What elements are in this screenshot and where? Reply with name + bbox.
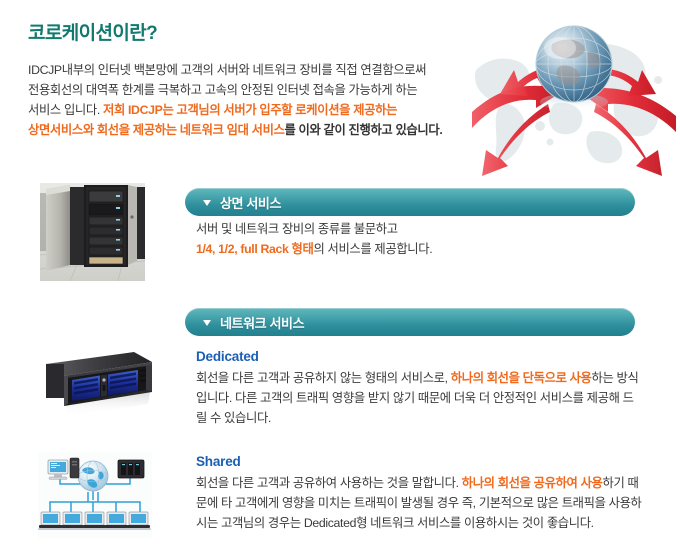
section-header-colocation-label: 상면 서비스 xyxy=(220,193,281,212)
dedicated-text-highlight: 하나의 회선을 단독으로 사용 xyxy=(451,371,592,385)
server-rack-photo xyxy=(40,183,145,281)
dedicated-text-part-1: 회선을 다른 고객과 공유하지 않는 형태의 서비스로, xyxy=(196,371,451,385)
dedicated-body-copy: Dedicated 회선을 다른 고객과 공유하지 않는 형태의 서비스로, 하… xyxy=(196,347,644,428)
section-header-colocation[interactable]: 상면 서비스 xyxy=(185,188,635,216)
intro-line-3-highlight: 저희 IDCJP는 고객님의 서버가 입주할 로케이션을 제공하는 xyxy=(103,103,397,117)
dedicated-heading: Dedicated xyxy=(196,347,644,367)
shared-body-copy: Shared 회선을 다른 고객과 공유하여 사용하는 것을 말합니다. 하나의… xyxy=(196,452,648,533)
intro-line-3-plain: 서비스 입니다. xyxy=(28,103,103,117)
shared-text-highlight: 하나의 회선을 공유하여 사용 xyxy=(462,476,603,490)
rackmount-server-photo xyxy=(38,348,156,424)
globe-sphere xyxy=(536,26,612,111)
intro-paragraph: IDCJP내부의 인터넷 백본망에 고객의 서버와 네트워크 장비를 직접 연결… xyxy=(28,60,468,140)
colocation-line-1: 서버 및 네트워크 장비의 종류를 불문하고 xyxy=(196,222,398,236)
intro-line-4-highlight: 상면서비스와 회선을 제공하는 네트워크 임대 서비스 xyxy=(28,123,285,137)
server-icon xyxy=(118,460,144,478)
shared-text-part-1: 회선을 다른 고객과 공유하여 사용하는 것을 말합니다. xyxy=(196,476,462,490)
intro-line-2: 전용회선의 대역폭 한계를 극복하고 고속의 안정된 인터넷 접속을 가능하게 … xyxy=(28,83,417,97)
globe-icon xyxy=(78,461,108,491)
globe-with-arrows-graphic xyxy=(470,8,680,180)
colocation-line-2-highlight: 1/4, 1/2, full Rack 형태 xyxy=(196,242,313,256)
section-header-network[interactable]: 네트워크 서비스 xyxy=(185,308,635,336)
chevron-down-icon xyxy=(203,200,211,206)
colocation-body-copy: 서버 및 네트워크 장비의 종류를 불문하고 1/4, 1/2, full Ra… xyxy=(196,219,636,259)
intro-line-1: IDCJP내부의 인터넷 백본망에 고객의 서버와 네트워크 장비를 직접 연결… xyxy=(28,63,426,77)
page-title: 코로케이션이란? xyxy=(28,18,157,45)
shared-heading: Shared xyxy=(196,452,648,472)
page-root: 코로케이션이란? IDCJP내부의 인터넷 백본망에 고객의 서버와 네트워크 … xyxy=(0,0,680,560)
section-header-network-label: 네트워크 서비스 xyxy=(220,313,304,332)
chevron-down-icon xyxy=(203,320,211,326)
laptop-row xyxy=(38,512,151,530)
rack-units xyxy=(89,191,123,264)
colocation-line-2-plain: 의 서비스를 제공합니다. xyxy=(313,242,432,256)
network-topology-diagram-photo xyxy=(38,452,152,538)
intro-line-4-plain: 를 이와 같이 진행하고 있습니다. xyxy=(285,123,443,137)
